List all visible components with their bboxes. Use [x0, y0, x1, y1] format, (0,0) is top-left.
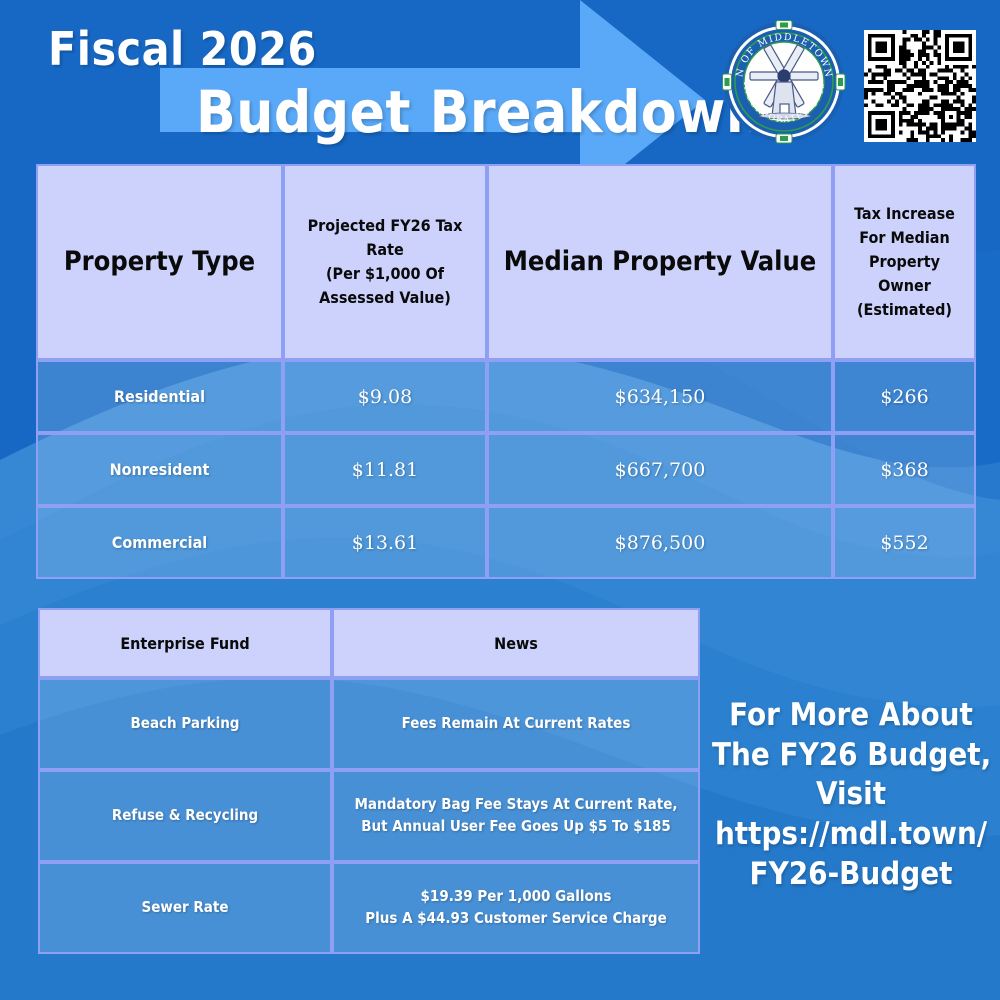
cta-line-3: Visit: [712, 775, 990, 815]
enterprise-fund-table: Enterprise Fund News Beach Parking Fees …: [38, 608, 700, 954]
cell-tax-rate: $9.08: [283, 360, 487, 433]
cell-tax-increase: $368: [833, 433, 976, 506]
cell-news: $19.39 Per 1,000 Gallons Plus A $44.93 C…: [332, 862, 700, 954]
infographic-page: Fiscal 2026 Budget Breakdown: [0, 0, 1000, 1000]
news-line: Fees Remain At Current Rates: [340, 713, 692, 735]
table-row: Sewer Rate $19.39 Per 1,000 Gallons Plus…: [38, 862, 700, 954]
tax-rate-line-3: (Per $1,000 Of: [291, 262, 479, 286]
table-row: Commercial $13.61 $876,500 $552: [36, 506, 976, 579]
column-header-tax-rate: Projected FY26 Tax Rate (Per $1,000 Of A…: [283, 164, 487, 360]
table-row: Refuse & Recycling Mandatory Bag Fee Sta…: [38, 770, 700, 862]
news-line: Plus A $44.93 Customer Service Charge: [340, 908, 692, 930]
table-row: Beach Parking Fees Remain At Current Rat…: [38, 678, 700, 770]
column-header-median-value: Median Property Value: [487, 164, 833, 360]
cta-url-line-2[interactable]: FY26-Budget: [712, 855, 990, 895]
news-line: $19.39 Per 1,000 Gallons: [340, 886, 692, 908]
table-row: Nonresident $11.81 $667,700 $368: [36, 433, 976, 506]
news-line: Mandatory Bag Fee Stays At Current Rate,: [340, 794, 692, 816]
cell-tax-rate: $13.61: [283, 506, 487, 579]
column-header-news: News: [332, 608, 700, 678]
page-title-line1: Fiscal 2026: [48, 22, 317, 76]
call-to-action-block: For More About The FY26 Budget, Visit ht…: [712, 696, 990, 894]
town-seal-logo: TOWN OF MIDDLETOWN R.I. INCORPORATED 174…: [722, 20, 846, 144]
tax-increase-line-3: Property: [841, 250, 968, 274]
cell-property-type: Residential: [36, 360, 283, 433]
cell-tax-increase: $552: [833, 506, 976, 579]
tax-increase-line-4: Owner: [841, 274, 968, 298]
cta-line-2: The FY26 Budget,: [712, 736, 990, 776]
table-header-row: Property Type Projected FY26 Tax Rate (P…: [36, 164, 976, 360]
cell-property-type: Commercial: [36, 506, 283, 579]
cell-news: Mandatory Bag Fee Stays At Current Rate,…: [332, 770, 700, 862]
cell-median-value: $667,700: [487, 433, 833, 506]
tax-increase-line-1: Tax Increase: [841, 202, 968, 226]
cell-fund-name: Sewer Rate: [38, 862, 332, 954]
tax-rate-line-2: Rate: [291, 238, 479, 262]
qr-code[interactable]: [864, 30, 976, 142]
cell-property-type: Nonresident: [36, 433, 283, 506]
table-row: Residential $9.08 $634,150 $266: [36, 360, 976, 433]
cell-tax-increase: $266: [833, 360, 976, 433]
cell-median-value: $876,500: [487, 506, 833, 579]
tax-increase-line-2: For Median: [841, 226, 968, 250]
page-title-line2: Budget Breakdown: [196, 78, 764, 146]
column-header-property-type-label: Property Type: [64, 246, 255, 277]
cell-median-value: $634,150: [487, 360, 833, 433]
cell-fund-name: Beach Parking: [38, 678, 332, 770]
column-header-property-type: Property Type: [36, 164, 283, 360]
cell-tax-rate: $11.81: [283, 433, 487, 506]
tax-increase-line-5: (Estimated): [841, 298, 968, 322]
column-header-enterprise-fund: Enterprise Fund: [38, 608, 332, 678]
cell-fund-name: Refuse & Recycling: [38, 770, 332, 862]
cta-line-1: For More About: [712, 696, 990, 736]
cell-news: Fees Remain At Current Rates: [332, 678, 700, 770]
tax-rate-line-4: Assessed Value): [291, 286, 479, 310]
column-header-median-value-label: Median Property Value: [504, 246, 817, 277]
news-line: But Annual User Fee Goes Up $5 To $185: [340, 816, 692, 838]
column-header-tax-increase: Tax Increase For Median Property Owner (…: [833, 164, 976, 360]
tax-rate-line-1: Projected FY26 Tax: [291, 214, 479, 238]
property-tax-rates-table: Property Type Projected FY26 Tax Rate (P…: [36, 164, 976, 579]
table-header-row: Enterprise Fund News: [38, 608, 700, 678]
cta-url-line-1[interactable]: https://mdl.town/: [712, 815, 990, 855]
